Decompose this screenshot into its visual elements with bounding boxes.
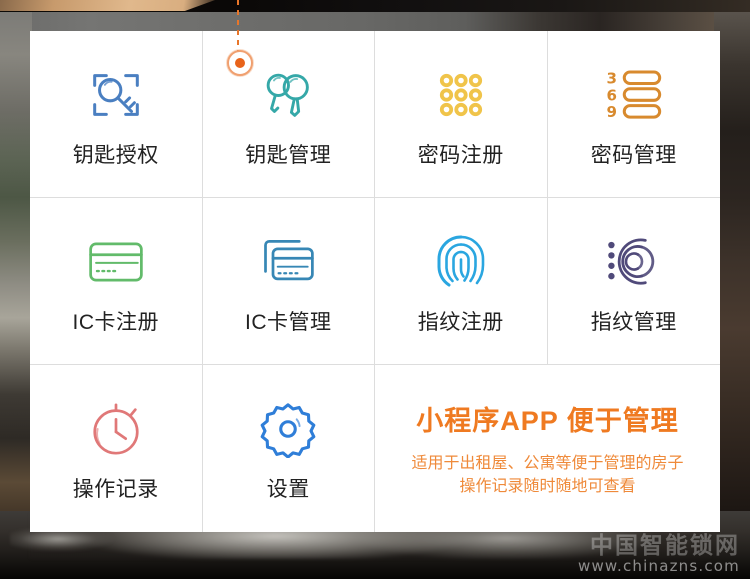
grid-cell-label: IC卡管理 (245, 310, 332, 335)
grid-cell-fingerprint-management[interactable]: 指纹管理 (548, 198, 721, 365)
promo-title: 小程序APP 便于管理 (416, 399, 679, 438)
grid-cell-label: 设置 (267, 477, 310, 502)
background-wood-beam (0, 0, 215, 11)
grid-cell-label: 指纹注册 (418, 310, 504, 335)
feature-grid-panel: 钥匙授权 钥匙管理 (30, 31, 720, 532)
grid-cell-ic-card-management[interactable]: IC卡管理 (203, 198, 376, 365)
grid-cell-label: 钥匙授权 (73, 143, 159, 168)
grid-cell-ic-card-register[interactable]: IC卡注册 (30, 198, 203, 365)
fingerprint-rings-icon (602, 224, 666, 300)
grid-cell-label: 密码管理 (591, 143, 677, 168)
grid-cell-label: 操作记录 (73, 477, 159, 502)
fingerprint-icon (432, 224, 490, 300)
stopwatch-clock-icon (87, 391, 145, 467)
grid-cell-password-register[interactable]: 密码注册 (375, 31, 548, 198)
password-list-369-icon: 3 6 9 (603, 57, 665, 133)
svg-text:3: 3 (606, 69, 616, 87)
screenshot-stage: 钥匙授权 钥匙管理 (0, 0, 750, 579)
grid-cell-label: 钥匙管理 (245, 143, 331, 168)
promo-subtitle-line-1: 适用于出租屋、公寓等便于管理的房子 (411, 452, 683, 475)
card-icon (87, 224, 145, 300)
svg-text:6: 6 (606, 86, 616, 104)
gear-icon (259, 391, 317, 467)
grid-cell-settings[interactable]: 设置 (203, 365, 376, 532)
grid-cell-fingerprint-register[interactable]: 指纹注册 (375, 198, 548, 365)
grid-cell-label: 密码注册 (418, 143, 504, 168)
two-keys-icon (257, 57, 319, 133)
key-search-icon (85, 57, 147, 133)
background-room-left (0, 11, 32, 559)
hotspot-marker[interactable] (227, 50, 253, 76)
keypad-dots-icon (432, 57, 490, 133)
promo-panel: 小程序APP 便于管理 适用于出租屋、公寓等便于管理的房子 操作记录随时随地可查… (375, 365, 720, 532)
grid-cell-label: IC卡注册 (73, 310, 160, 335)
grid-cell-key-authorization[interactable]: 钥匙授权 (30, 31, 203, 198)
grid-cell-password-management[interactable]: 3 6 9 密码管理 (548, 31, 721, 198)
svg-text:9: 9 (606, 103, 616, 121)
hotspot-dot-icon (235, 58, 245, 68)
promo-subtitle-line-2: 操作记录随时随地可查看 (459, 475, 635, 498)
grid-cell-operation-log[interactable]: 操作记录 (30, 365, 203, 532)
grid-cell-label: 指纹管理 (591, 310, 677, 335)
two-cards-icon (258, 224, 318, 300)
